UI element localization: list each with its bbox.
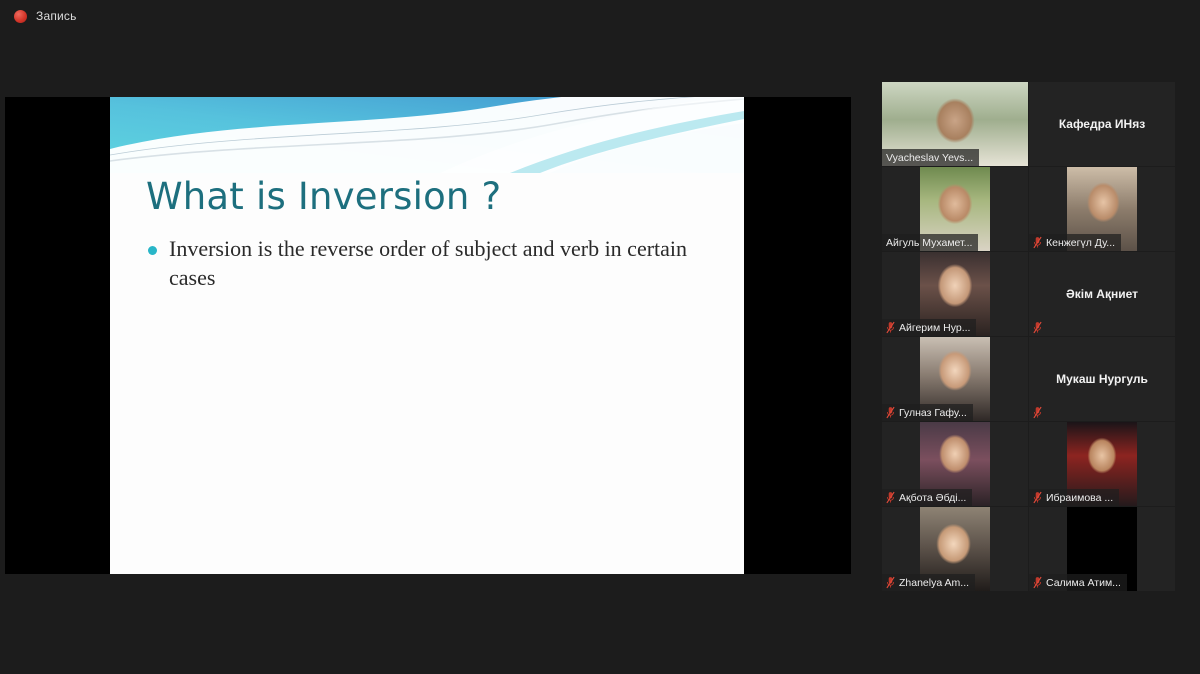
mic-muted-icon (1033, 491, 1042, 504)
mic-muted-icon (886, 406, 895, 419)
participant-filmstrip[interactable]: Vyacheslav Yevs...Кафедра ИНязАйгуль Мух… (882, 82, 1176, 590)
participant-name: Ақбота Әбді... (899, 492, 966, 504)
participant-name-chip: Кенжегүл Ду... (1029, 234, 1121, 251)
recording-label: Запись (36, 9, 77, 23)
participant-tile[interactable]: Кенжегүл Ду... (1029, 167, 1175, 251)
participant-name-chip: Zhanelya Am... (882, 574, 975, 591)
meeting-window: Запись (0, 0, 1200, 674)
slide-title: What is Inversion ? (146, 175, 501, 218)
presentation-slide: What is Inversion ? Inversion is the rev… (110, 97, 744, 574)
slide-bullet-item: Inversion is the reverse order of subjec… (148, 235, 716, 292)
participant-name: Кенжегүл Ду... (1046, 237, 1115, 249)
mic-muted-icon (1033, 576, 1042, 589)
recording-bar: Запись (0, 0, 1200, 32)
participant-tile[interactable]: Айгуль Мухамет... (882, 167, 1028, 251)
participant-name: Zhanelya Am... (899, 577, 969, 589)
participant-name: Vyacheslav Yevs... (886, 152, 973, 164)
participant-tile[interactable]: Гулназ Гафу... (882, 337, 1028, 421)
participant-name: Салима Атим... (1046, 577, 1121, 589)
participant-tile[interactable]: Салима Атим... (1029, 507, 1175, 591)
record-dot-icon (14, 10, 27, 23)
slide-banner-decoration (110, 97, 744, 173)
participant-tile[interactable]: Айгерим Нур... (882, 252, 1028, 336)
participant-name: Гулназ Гафу... (899, 407, 967, 419)
participant-name-chip: Гулназ Гафу... (882, 404, 973, 421)
participant-status (1029, 319, 1048, 336)
mic-muted-icon (1033, 236, 1042, 249)
bullet-point-icon (148, 246, 157, 255)
participant-tile[interactable]: Әкім Ақниет (1029, 252, 1175, 336)
participant-name: Мукаш Нургуль (1029, 337, 1175, 421)
participant-name-chip: Айгуль Мухамет... (882, 234, 978, 251)
participant-name-chip: Салима Атим... (1029, 574, 1127, 591)
participant-name-chip: Ақбота Әбді... (882, 489, 972, 506)
participant-name: Айгерим Нур... (899, 322, 970, 334)
mic-muted-icon (886, 491, 895, 504)
mic-muted-icon (886, 576, 895, 589)
participant-tile[interactable]: Мукаш Нургуль (1029, 337, 1175, 421)
participant-status (1029, 404, 1048, 421)
mic-muted-icon (1033, 321, 1042, 334)
participant-tile[interactable]: Кафедра ИНяз (1029, 82, 1175, 166)
participant-name: Айгуль Мухамет... (886, 237, 972, 249)
participant-tile[interactable]: Zhanelya Am... (882, 507, 1028, 591)
participant-name-chip: Айгерим Нур... (882, 319, 976, 336)
slide-bullet-text: Inversion is the reverse order of subjec… (169, 235, 716, 292)
mic-muted-icon (886, 321, 895, 334)
shared-screen-stage[interactable]: What is Inversion ? Inversion is the rev… (5, 97, 851, 574)
mic-muted-icon (1033, 406, 1042, 419)
participant-tile[interactable]: Ақбота Әбді... (882, 422, 1028, 506)
participant-name: Әкім Ақниет (1029, 252, 1175, 336)
participant-name: Ибраимова ... (1046, 492, 1113, 504)
participant-name-chip: Vyacheslav Yevs... (882, 149, 979, 166)
participant-tile[interactable]: Ибраимова ... (1029, 422, 1175, 506)
participant-name-chip: Ибраимова ... (1029, 489, 1119, 506)
participant-tile[interactable]: Vyacheslav Yevs... (882, 82, 1028, 166)
participant-name: Кафедра ИНяз (1029, 82, 1175, 166)
